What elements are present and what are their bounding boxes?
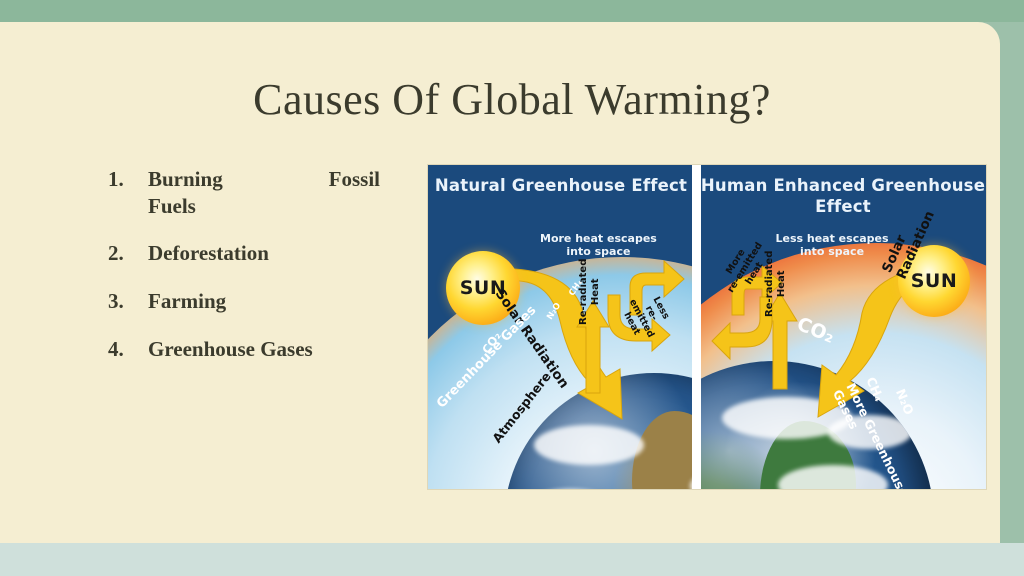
- list-item-number: 2.: [108, 240, 148, 267]
- list-item-number: 3.: [108, 288, 148, 315]
- list-item-label: Farming: [148, 288, 380, 315]
- panel-title-human: Human Enhanced Greenhouse Effect: [700, 176, 986, 217]
- slide-bottom-band: [0, 543, 1024, 576]
- sun-label: SUN: [911, 270, 958, 292]
- greenhouse-effect-diagram: Natural Greenhouse Effect More heat esca…: [428, 165, 986, 489]
- diagram-panel-human: Human Enhanced Greenhouse Effect Less he…: [700, 165, 986, 489]
- page-title: Causes Of Global Warming?: [0, 74, 1024, 125]
- cloud: [534, 425, 644, 465]
- causes-list: 1. Burning Fossil Fuels 2. Deforestation…: [108, 166, 380, 383]
- list-item-label: Burning Fossil Fuels: [148, 166, 380, 219]
- list-item-label: Deforestation: [148, 240, 380, 267]
- arrow-re-emitted-heat-human: [710, 295, 766, 365]
- panel-title-natural: Natural Greenhouse Effect: [428, 176, 694, 197]
- panel-divider: [692, 165, 701, 489]
- list-item-label-line1: Burning Fossil: [148, 166, 380, 193]
- list-item: 4. Greenhouse Gases: [108, 336, 380, 363]
- list-item-number: 4.: [108, 336, 148, 363]
- caption-heat-escapes-natural: More heat escapes into space: [540, 233, 657, 259]
- list-item: 2. Deforestation: [108, 240, 380, 267]
- label-re-radiated-heat-natural: Re-radiated Heat: [578, 259, 601, 325]
- list-item-number: 1.: [108, 166, 148, 193]
- list-item-label: Greenhouse Gases: [148, 336, 380, 363]
- diagram-panel-natural: Natural Greenhouse Effect More heat esca…: [428, 165, 694, 489]
- list-item: 3. Farming: [108, 288, 380, 315]
- list-item: 1. Burning Fossil Fuels: [108, 166, 380, 219]
- list-item-label-line2: Fuels: [148, 193, 380, 220]
